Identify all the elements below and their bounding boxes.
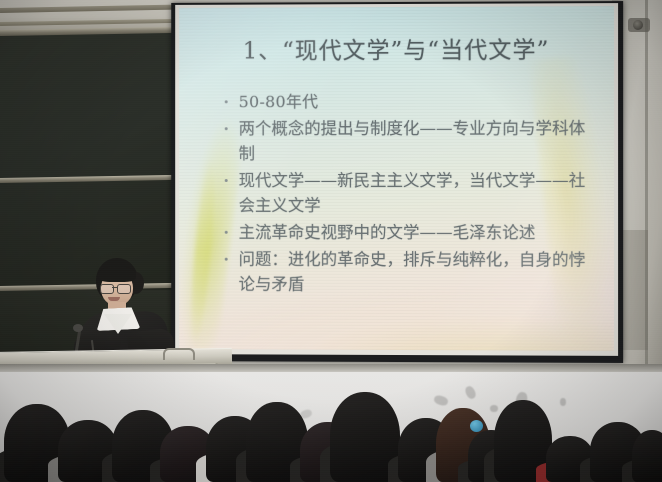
audience-head — [632, 430, 662, 482]
speaker-cone-icon — [633, 20, 643, 30]
lecturer-fringe — [98, 266, 136, 282]
wall-scuff — [560, 398, 566, 406]
projection-screen-frame: 1、“现代文学”与“当代文学” 50-80年代 两个概念的提出与制度化——专业方… — [171, 1, 623, 363]
lecture-hall-photo: 1、“现代文学”与“当代文学” 50-80年代 两个概念的提出与制度化——专业方… — [0, 0, 662, 482]
slide-title: 1、“现代文学”与“当代文学” — [179, 30, 614, 65]
wall-scuff — [490, 405, 498, 412]
slide-bullet-item: 现代文学——新民主主义文学，当代文学——社会主义文学 — [223, 168, 588, 218]
glasses-icon — [100, 284, 132, 292]
slide-bullet-list: 50-80年代 两个概念的提出与制度化——专业方向与学科体制 现代文学——新民主… — [223, 89, 588, 300]
projection-screen-surface: 1、“现代文学”与“当代文学” 50-80年代 两个概念的提出与制度化——专业方… — [179, 6, 614, 351]
podium-handle — [163, 348, 195, 360]
hair-tie — [470, 420, 483, 432]
slide-bullet-item: 50-80年代 — [223, 89, 588, 115]
microphone-icon — [73, 324, 83, 332]
glasses-right-lens — [117, 284, 131, 294]
glasses-left-lens — [100, 284, 114, 294]
slide-bullet-item: 问题：进化的革命史，排斥与纯粹化，自身的悖论与矛盾 — [223, 247, 588, 298]
slide-bullet-item: 主流革命史视野中的文学——毛泽东论述 — [223, 220, 588, 245]
slide-bullet-item: 两个概念的提出与制度化——专业方向与学科体制 — [223, 116, 588, 166]
right-wall-seam — [645, 0, 648, 372]
